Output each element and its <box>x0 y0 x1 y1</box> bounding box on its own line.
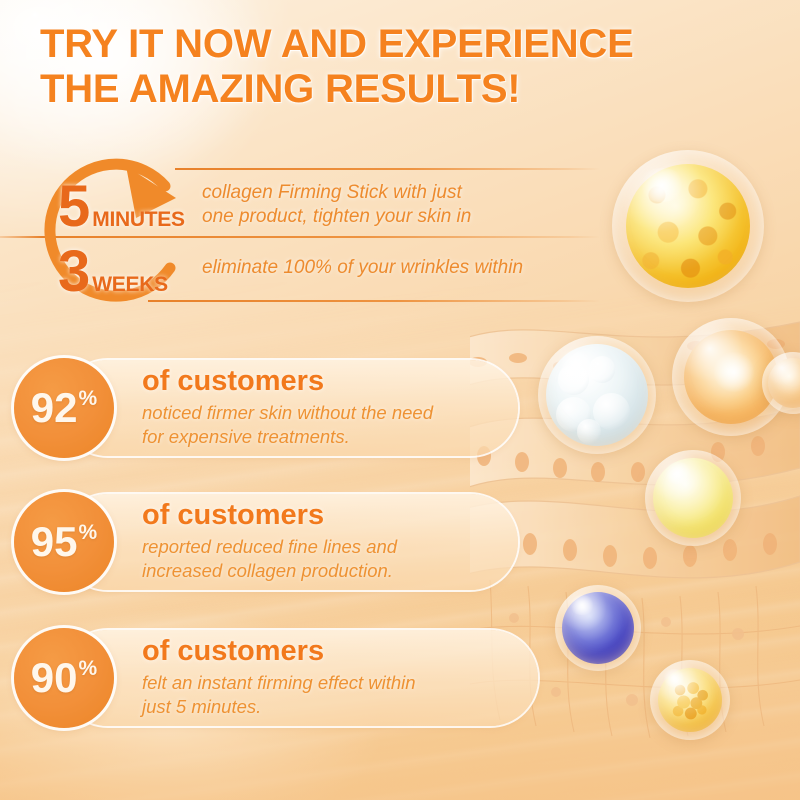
percent-sign: % <box>79 388 98 409</box>
timing-number-minutes: 5 <box>58 178 90 236</box>
stat-title: of customers <box>142 636 512 668</box>
sparkle-icon <box>30 10 40 20</box>
timing-copy-weeks: eliminate 100% of your wrinkles within <box>202 256 602 280</box>
timing-copy-minutes-line-1: collagen Firming Stick with just <box>202 181 602 205</box>
timing-rule-top <box>175 168 600 170</box>
stat-description: reported reduced fine lines and increase… <box>142 535 512 582</box>
timing-copy-minutes-line-2: one product, tighten your skin in <box>202 205 602 229</box>
stat-description: noticed firmer skin without the need for… <box>142 401 512 448</box>
stat-badge-92: 92 % <box>14 358 114 458</box>
stat-description-line-2: just 5 minutes. <box>142 695 512 719</box>
timing-row-minutes: 5 MINUTES <box>58 178 185 236</box>
blue-swirl-sphere <box>555 585 641 671</box>
honeycomb-sphere-large <box>612 150 764 302</box>
stat-badge-90: 90 % <box>14 628 114 728</box>
timing-rule-bottom <box>148 300 600 302</box>
timing-copy-minutes: collagen Firming Stick with just one pro… <box>202 181 602 229</box>
headline-line-2: THE AMAZING RESULTS! <box>40 67 760 112</box>
stat-title: of customers <box>142 500 512 532</box>
honeycomb-sphere-small <box>650 660 730 740</box>
stat-text: of customers felt an instant firming eff… <box>142 636 512 718</box>
stat-description: felt an instant firming effect within ju… <box>142 671 512 718</box>
stat-value: 92 <box>31 387 78 429</box>
timing-panel: 5 MINUTES 3 WEEKS collagen Firming Stick… <box>0 148 620 318</box>
timing-number-weeks: 3 <box>58 243 90 301</box>
timing-row-weeks: 3 WEEKS <box>58 243 168 301</box>
stat-description-line-2: increased collagen production. <box>142 559 512 583</box>
headline-line-1: TRY IT NOW AND EXPERIENCE <box>40 22 760 67</box>
bubble-cluster-sphere <box>538 336 656 454</box>
stat-text: of customers reported reduced fine lines… <box>142 500 512 582</box>
stat-text: of customers noticed firmer skin without… <box>142 366 512 448</box>
yellow-serum-sphere <box>645 450 741 546</box>
headline: TRY IT NOW AND EXPERIENCE THE AMAZING RE… <box>40 22 760 112</box>
stat-badge-95: 95 % <box>14 492 114 592</box>
percent-sign: % <box>79 658 98 679</box>
percent-sign: % <box>79 522 98 543</box>
timing-unit-weeks: WEEKS <box>92 273 168 297</box>
stat-description-line-2: for expensive treatments. <box>142 425 512 449</box>
stat-value: 90 <box>31 657 78 699</box>
stat-description-line-1: reported reduced fine lines and <box>142 535 512 559</box>
stat-description-line-1: noticed firmer skin without the need <box>142 401 512 425</box>
stat-title: of customers <box>142 366 512 398</box>
stat-description-line-1: felt an instant firming effect within <box>142 671 512 695</box>
timing-copy-weeks-line-1: eliminate 100% of your wrinkles within <box>202 256 602 280</box>
stat-value: 95 <box>31 521 78 563</box>
promo-poster: TRY IT NOW AND EXPERIENCE THE AMAZING RE… <box>0 0 800 800</box>
timing-unit-minutes: MINUTES <box>92 208 184 232</box>
